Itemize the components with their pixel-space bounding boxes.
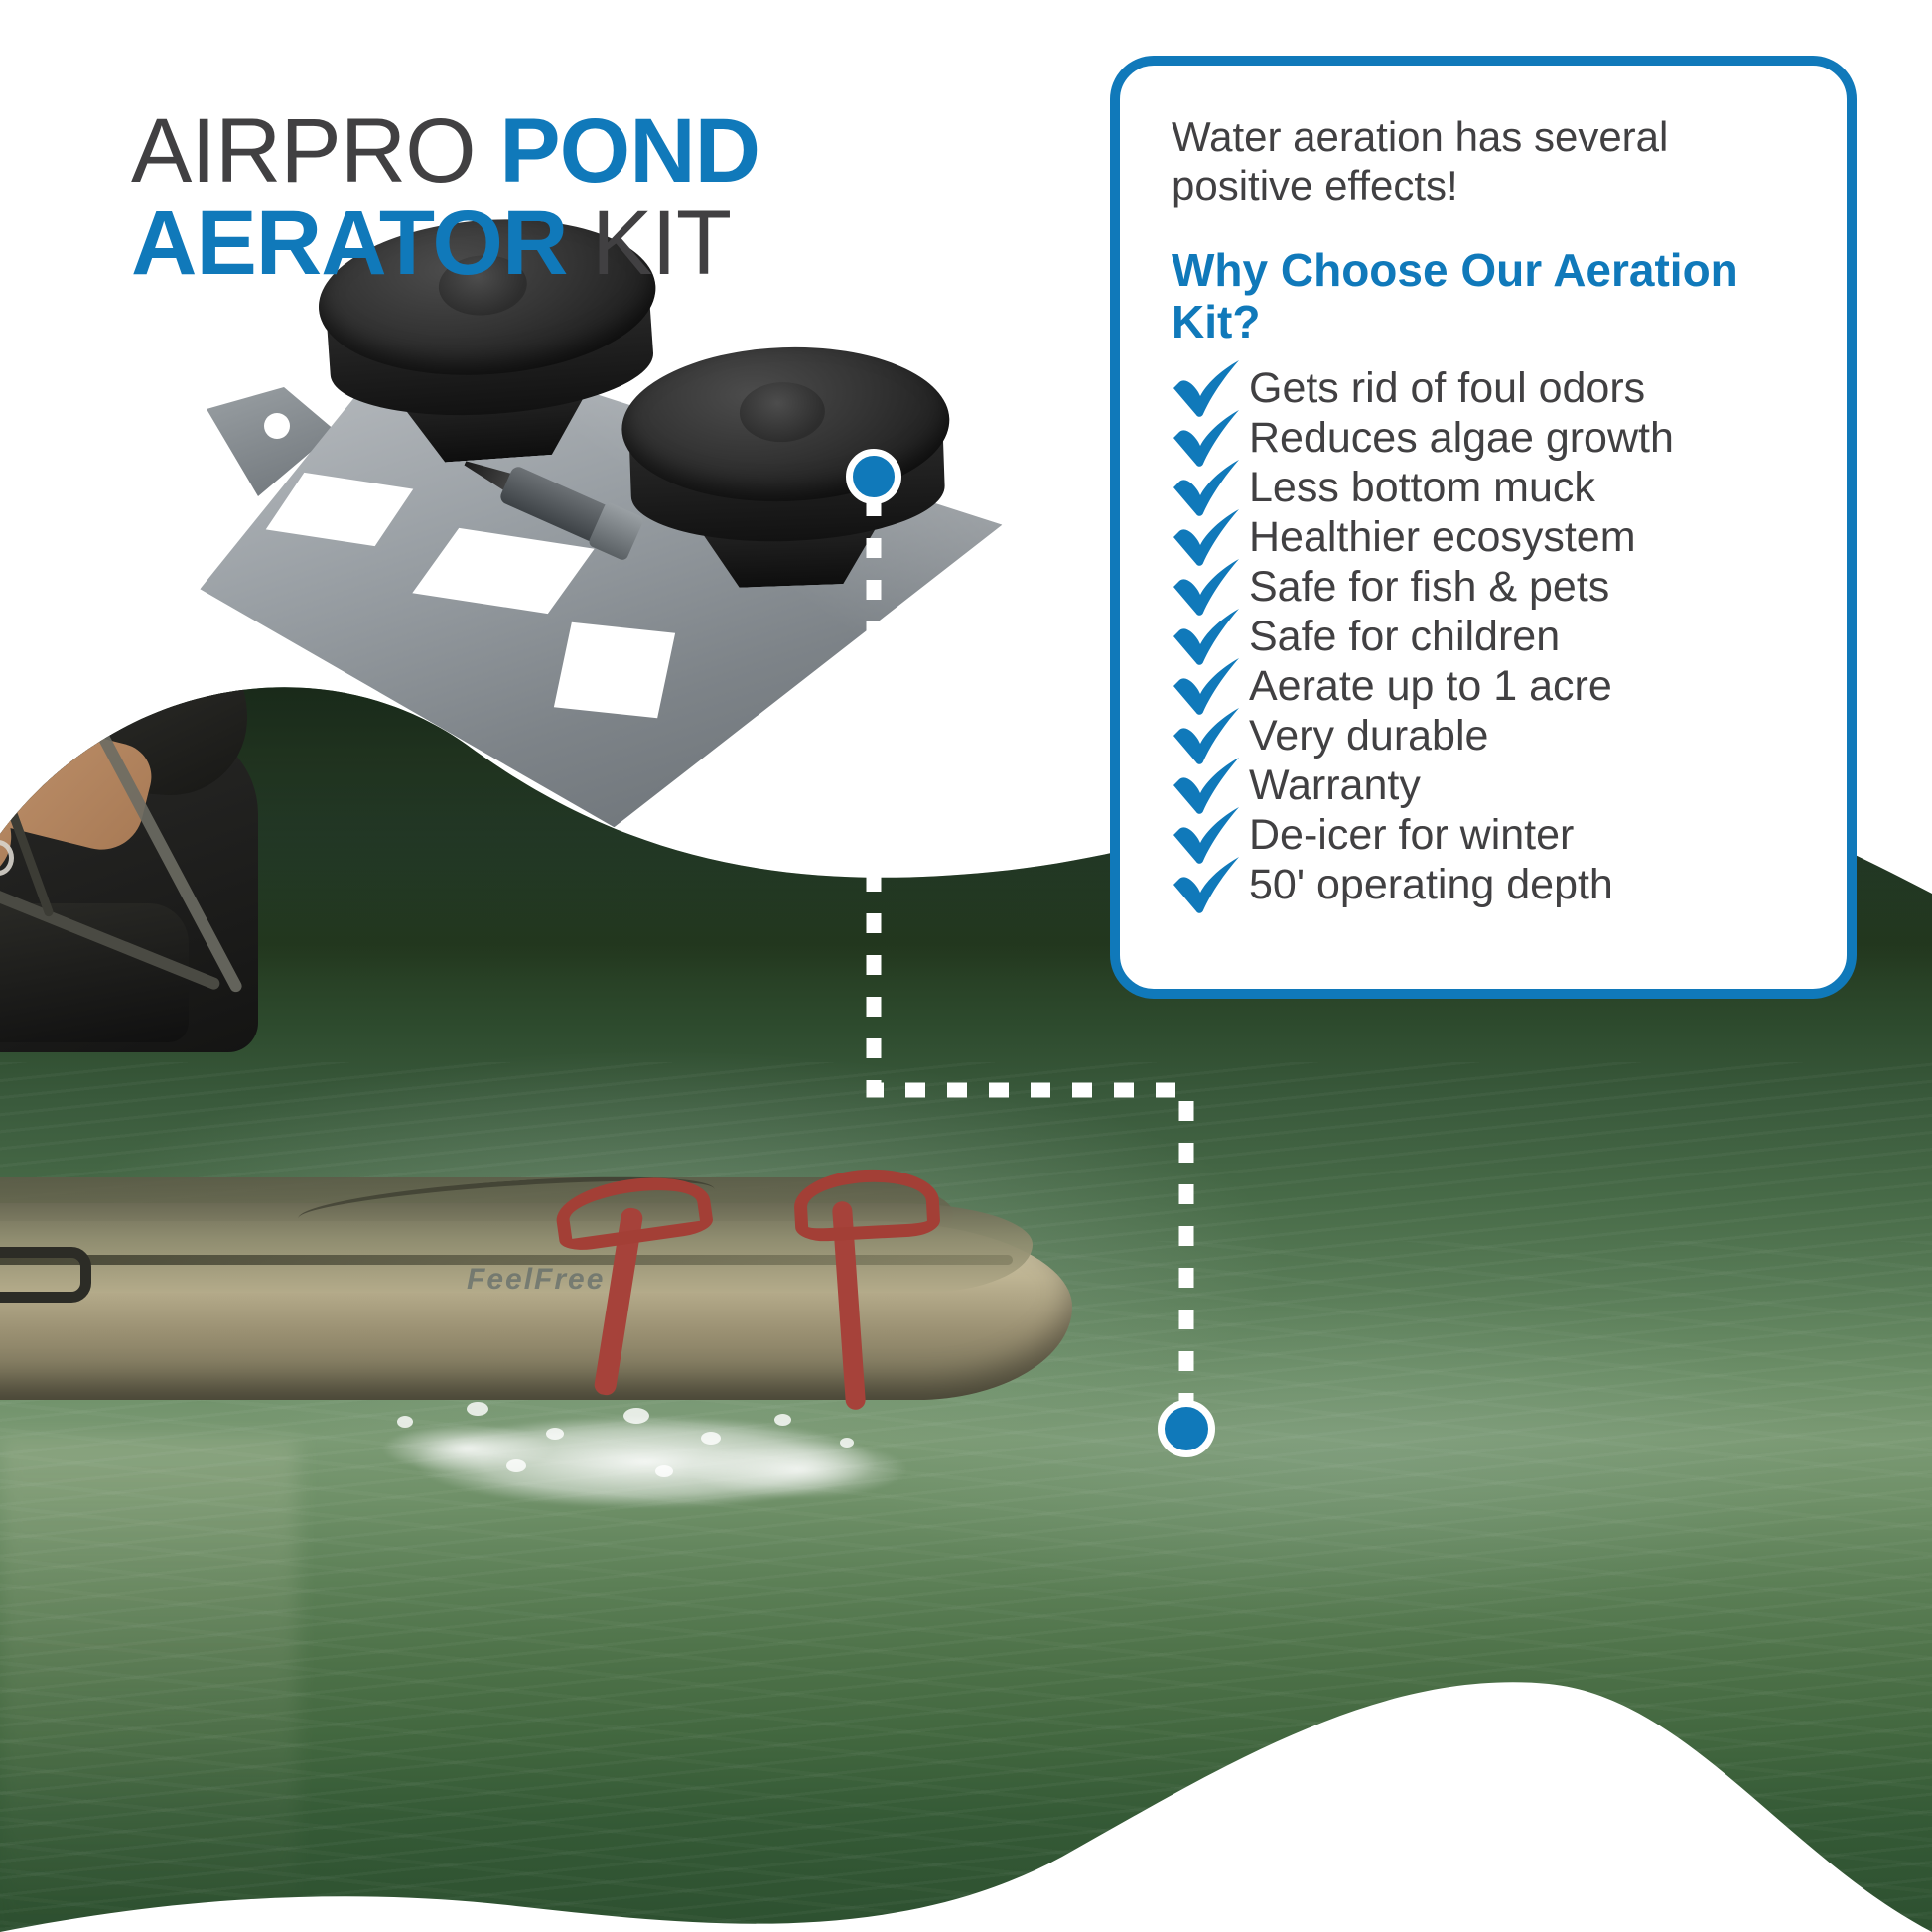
- benefits-card: Water aeration has several positive effe…: [1110, 56, 1857, 999]
- benefit-item: Warranty: [1164, 760, 1803, 810]
- benefits-list: Gets rid of foul odorsReduces algae grow…: [1164, 363, 1803, 909]
- title-word-airpro: AIRPRO: [131, 100, 476, 202]
- page-title: AIRPRO POND AERATOR KIT: [131, 105, 965, 292]
- plate-hole: [264, 413, 290, 439]
- title-word-aerator: AERATOR: [131, 193, 567, 294]
- check-icon: [1164, 561, 1249, 613]
- benefit-item: Safe for fish & pets: [1164, 562, 1803, 612]
- check-icon: [1164, 759, 1249, 811]
- check-icon: [1164, 511, 1249, 563]
- benefit-item: Safe for children: [1164, 612, 1803, 661]
- benefit-label: Less bottom muck: [1249, 467, 1595, 509]
- check-icon: [1164, 660, 1249, 712]
- callout-dot-aerator[interactable]: [846, 449, 901, 504]
- check-icon: [1164, 859, 1249, 910]
- check-icon: [1164, 362, 1249, 414]
- benefit-label: Aerate up to 1 acre: [1249, 665, 1612, 708]
- benefit-label: Reduces algae growth: [1249, 417, 1674, 460]
- benefit-item: 50' operating depth: [1164, 860, 1803, 909]
- check-icon: [1164, 809, 1249, 861]
- bubble-specks: [357, 1386, 913, 1505]
- diffuser-disc-2: [620, 342, 956, 601]
- infographic-canvas: FeelFree: [0, 0, 1932, 1932]
- benefit-label: De-icer for winter: [1249, 814, 1574, 857]
- kayak-handle: [0, 1247, 91, 1303]
- benefit-item: De-icer for winter: [1164, 810, 1803, 860]
- benefit-label: Warranty: [1249, 764, 1421, 807]
- benefit-item: Healthier ecosystem: [1164, 512, 1803, 562]
- benefit-item: Gets rid of foul odors: [1164, 363, 1803, 413]
- card-heading: Why Choose Our Aeration Kit?: [1172, 245, 1803, 347]
- check-icon: [1164, 412, 1249, 464]
- benefit-item: Aerate up to 1 acre: [1164, 661, 1803, 711]
- benefit-label: Safe for children: [1249, 616, 1560, 658]
- benefit-item: Very durable: [1164, 711, 1803, 760]
- benefit-label: Gets rid of foul odors: [1249, 367, 1645, 410]
- card-intro-text: Water aeration has several positive effe…: [1172, 113, 1803, 209]
- title-word-pond: POND: [499, 100, 759, 202]
- benefit-item: Reduces algae growth: [1164, 413, 1803, 463]
- check-icon: [1164, 611, 1249, 662]
- benefit-item: Less bottom muck: [1164, 463, 1803, 512]
- benefit-label: Very durable: [1249, 715, 1488, 758]
- callout-dot-bubbles[interactable]: [1158, 1400, 1215, 1457]
- title-word-kit: KIT: [592, 193, 731, 294]
- check-icon: [1164, 462, 1249, 513]
- benefit-label: Healthier ecosystem: [1249, 516, 1636, 559]
- kayak-brand-logo: FeelFree: [467, 1263, 655, 1307]
- benefit-label: Safe for fish & pets: [1249, 566, 1609, 609]
- benefit-label: 50' operating depth: [1249, 864, 1613, 906]
- check-icon: [1164, 710, 1249, 761]
